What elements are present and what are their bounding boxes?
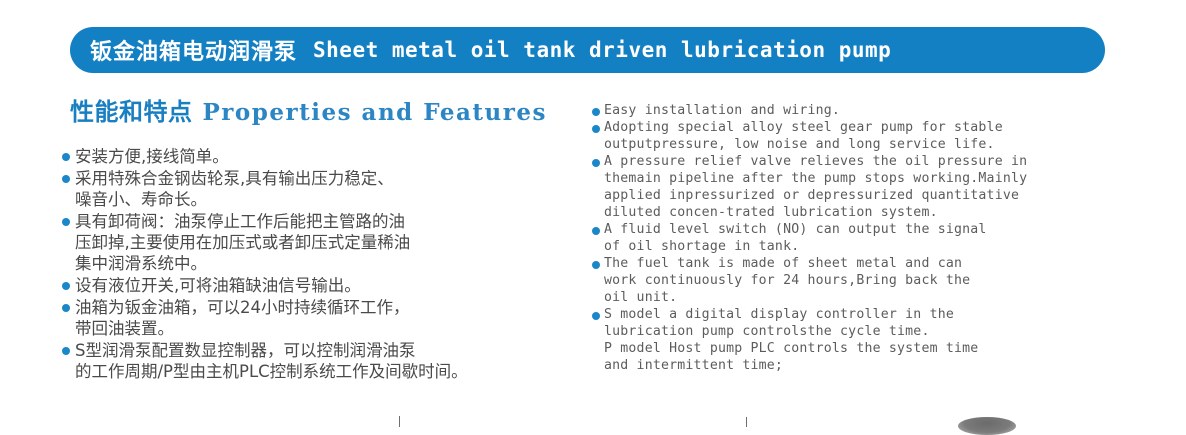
features-list-english: Easy installation and wiring. Adopting s… [592, 102, 1152, 374]
dimension-tick-mark-right [746, 417, 747, 427]
bullet-dot-icon [62, 282, 70, 290]
feature-text: 油箱为钣金油箱，可以24小时持续循环工作， 带回油装置。 [75, 297, 410, 339]
list-item: Adopting special alloy steel gear pump f… [592, 119, 1152, 153]
product-title-banner: 钣金油箱电动润滑泵 Sheet metal oil tank driven lu… [70, 27, 1105, 73]
list-item: S model a digital display controller in … [592, 306, 1152, 374]
bullet-dot-icon [62, 304, 70, 312]
feature-text: Adopting special alloy steel gear pump f… [604, 119, 1003, 153]
list-item: A fluid level switch (NO) can output the… [592, 221, 1152, 255]
bullet-dot-icon [592, 159, 600, 167]
feature-text: Easy installation and wiring. [604, 102, 840, 119]
feature-text: 安装方便,接线简单。 [75, 146, 229, 167]
product-title-chinese: 钣金油箱电动润滑泵 [90, 34, 297, 66]
bullet-dot-icon [592, 108, 600, 116]
list-item: 安装方便,接线简单。 [62, 146, 582, 167]
list-item: The fuel tank is made of sheet metal and… [592, 255, 1152, 306]
bullet-dot-icon [62, 153, 70, 161]
bullet-dot-icon [62, 175, 70, 183]
section-heading-chinese: 性能和特点 [70, 92, 193, 127]
product-photo-top-edge [958, 417, 1016, 435]
list-item: Easy installation and wiring. [592, 102, 1152, 119]
list-item: 具有卸荷阀：油泵停止工作后能把主管路的油 压卸掉,主要使用在加压式或者卸压式定量… [62, 211, 582, 274]
feature-text: 具有卸荷阀：油泵停止工作后能把主管路的油 压卸掉,主要使用在加压式或者卸压式定量… [75, 211, 410, 274]
bullet-dot-icon [592, 227, 600, 235]
list-item: 设有液位开关,可将油箱缺油信号输出。 [62, 275, 582, 296]
list-item: 油箱为钣金油箱，可以24小时持续循环工作， 带回油装置。 [62, 297, 582, 339]
feature-text: A pressure relief valve relieves the oil… [604, 153, 1027, 221]
feature-text: A fluid level switch (NO) can output the… [604, 221, 987, 255]
feature-text: 采用特殊合金钢齿轮泵,具有输出压力稳定、 噪音小、寿命长。 [75, 168, 394, 210]
feature-text: 设有液位开关,可将油箱缺油信号输出。 [75, 275, 361, 296]
section-heading-english: Properties and Features [203, 99, 547, 126]
features-list-chinese: 安装方便,接线简单。 采用特殊合金钢齿轮泵,具有输出压力稳定、 噪音小、寿命长。… [62, 146, 582, 383]
product-title-english: Sheet metal oil tank driven lubrication … [313, 38, 891, 62]
bullet-dot-icon [592, 312, 600, 320]
section-heading: 性能和特点 Properties and Features [70, 92, 547, 127]
feature-text: S model a digital display controller in … [604, 306, 978, 374]
bullet-dot-icon [592, 261, 600, 269]
list-item: S型润滑泵配置数显控制器，可以控制润滑油泵 的工作周期/P型由主机PLC控制系统… [62, 340, 582, 382]
feature-text: S型润滑泵配置数显控制器，可以控制润滑油泵 的工作周期/P型由主机PLC控制系统… [75, 340, 468, 382]
list-item: 采用特殊合金钢齿轮泵,具有输出压力稳定、 噪音小、寿命长。 [62, 168, 582, 210]
dimension-tick-mark-left [399, 416, 400, 427]
bullet-dot-icon [62, 218, 70, 226]
list-item: A pressure relief valve relieves the oil… [592, 153, 1152, 221]
bullet-dot-icon [62, 347, 70, 355]
bullet-dot-icon [592, 125, 600, 133]
feature-text: The fuel tank is made of sheet metal and… [604, 255, 970, 306]
